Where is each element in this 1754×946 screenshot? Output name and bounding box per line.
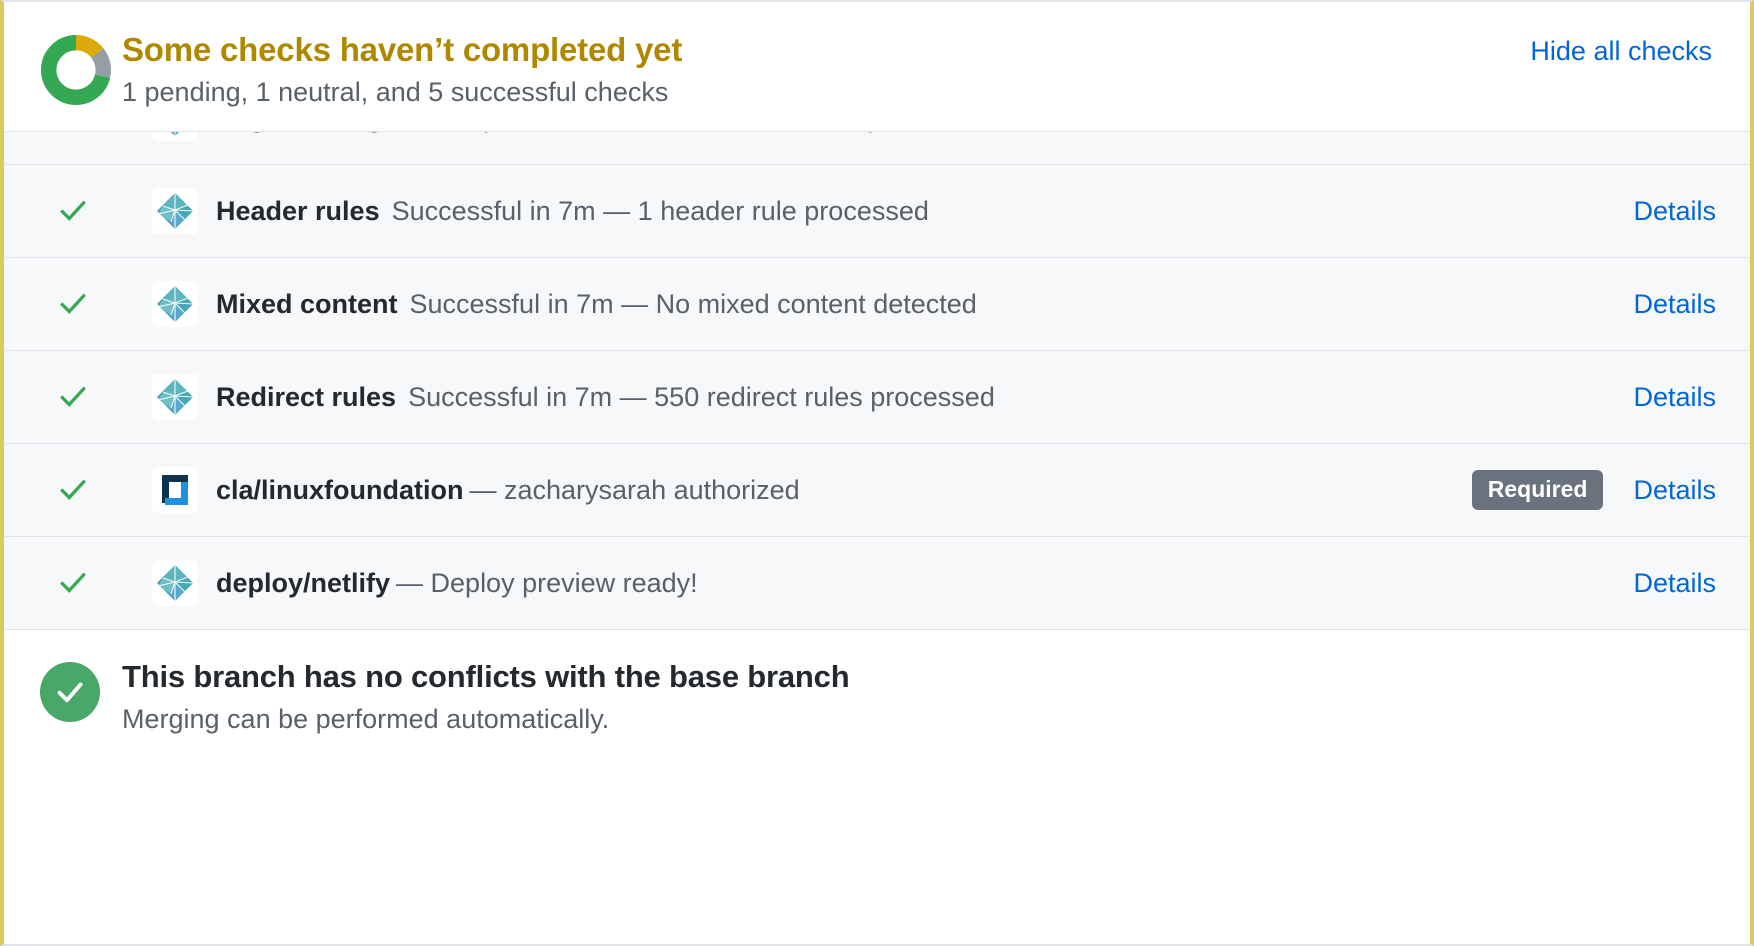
check-details-link[interactable]: Details: [1633, 475, 1716, 506]
checks-header-title: Some checks haven’t completed yet: [122, 30, 1530, 70]
check-text: deploy/netlify— Deploy preview ready!: [216, 566, 1633, 601]
check-description: — zacharysarah authorized: [470, 475, 800, 505]
check-row[interactable]: cla/linuxfoundation— zacharysarah author…: [4, 444, 1750, 537]
check-status-icon: [40, 196, 112, 226]
hide-all-checks-link[interactable]: Hide all checks: [1530, 36, 1712, 66]
linuxfoundation-cla-icon: [152, 467, 198, 513]
check-status-icon: [40, 568, 112, 598]
check-text: Redirect rulesSuccessful in 7m — 550 red…: [216, 380, 1633, 415]
netlify-icon: [152, 374, 198, 420]
check-details-link[interactable]: Details: [1633, 196, 1716, 227]
check-row[interactable]: Redirect rulesSuccessful in 7m — 550 red…: [4, 351, 1750, 444]
merge-state-title: This branch has no conflicts with the ba…: [122, 658, 849, 697]
required-badge: Required: [1472, 470, 1604, 510]
check-name: deploy/netlify: [216, 568, 390, 598]
check-text: Mixed contentSuccessful in 7m — No mixed…: [216, 287, 1633, 322]
checks-donut-wrap: [40, 30, 112, 106]
check-success-icon: [58, 289, 88, 319]
check-row[interactable]: Mixed contentSuccessful in 7m — No mixed…: [4, 258, 1750, 351]
check-description: Successful in 7m — 550 redirect rules pr…: [408, 382, 995, 412]
merge-state-section: This branch has no conflicts with the ba…: [4, 630, 1750, 944]
merge-state-text: This branch has no conflicts with the ba…: [100, 658, 849, 737]
netlify-icon: [152, 188, 198, 234]
check-text: cla/linuxfoundation— zacharysarah author…: [216, 473, 1472, 508]
checks-header-subtitle: 1 pending, 1 neutral, and 5 successful c…: [122, 76, 1530, 110]
check-row[interactable]: Header rulesSuccessful in 7m — 1 header …: [4, 165, 1750, 258]
check-name: Mixed content: [216, 289, 398, 319]
check-status-icon: [40, 382, 112, 412]
check-details-link[interactable]: Details: [1633, 568, 1716, 599]
check-text: Header rulesSuccessful in 7m — 1 header …: [216, 194, 1633, 229]
checks-status-donut-icon: [40, 34, 112, 106]
check-details-link[interactable]: Details: [1633, 289, 1716, 320]
check-status-icon: [40, 289, 112, 319]
check-success-icon: [58, 382, 88, 412]
merge-state-subtitle: Merging can be performed automatically.: [122, 703, 849, 737]
check-details-link[interactable]: Details: [1633, 382, 1716, 413]
check-description: Successful in 7m — No mixed content dete…: [410, 289, 977, 319]
check-success-icon: [58, 475, 88, 505]
check-name: cla/linuxfoundation: [216, 475, 464, 505]
check-row[interactable]: deploy/netlify— Deploy preview ready! De…: [4, 537, 1750, 630]
check-success-icon: [58, 196, 88, 226]
check-name: Header rules: [216, 196, 380, 226]
checks-header-action: Hide all checks: [1530, 30, 1716, 67]
checks-list: Pages changedCompleted in 7m — 2094 new …: [4, 72, 1750, 630]
merge-status-box: Some checks haven’t completed yet 1 pend…: [0, 0, 1754, 946]
check-name: Redirect rules: [216, 382, 396, 412]
checks-header-text: Some checks haven’t completed yet 1 pend…: [112, 30, 1530, 109]
check-circle-icon: [40, 662, 100, 722]
check-success-icon: [58, 568, 88, 598]
check-description: Successful in 7m — 1 header rule process…: [392, 196, 929, 226]
netlify-icon: [152, 281, 198, 327]
netlify-icon: [152, 560, 198, 606]
checks-status-header: Some checks haven’t completed yet 1 pend…: [4, 2, 1750, 132]
check-status-icon: [40, 475, 112, 505]
check-description: — Deploy preview ready!: [396, 568, 698, 598]
